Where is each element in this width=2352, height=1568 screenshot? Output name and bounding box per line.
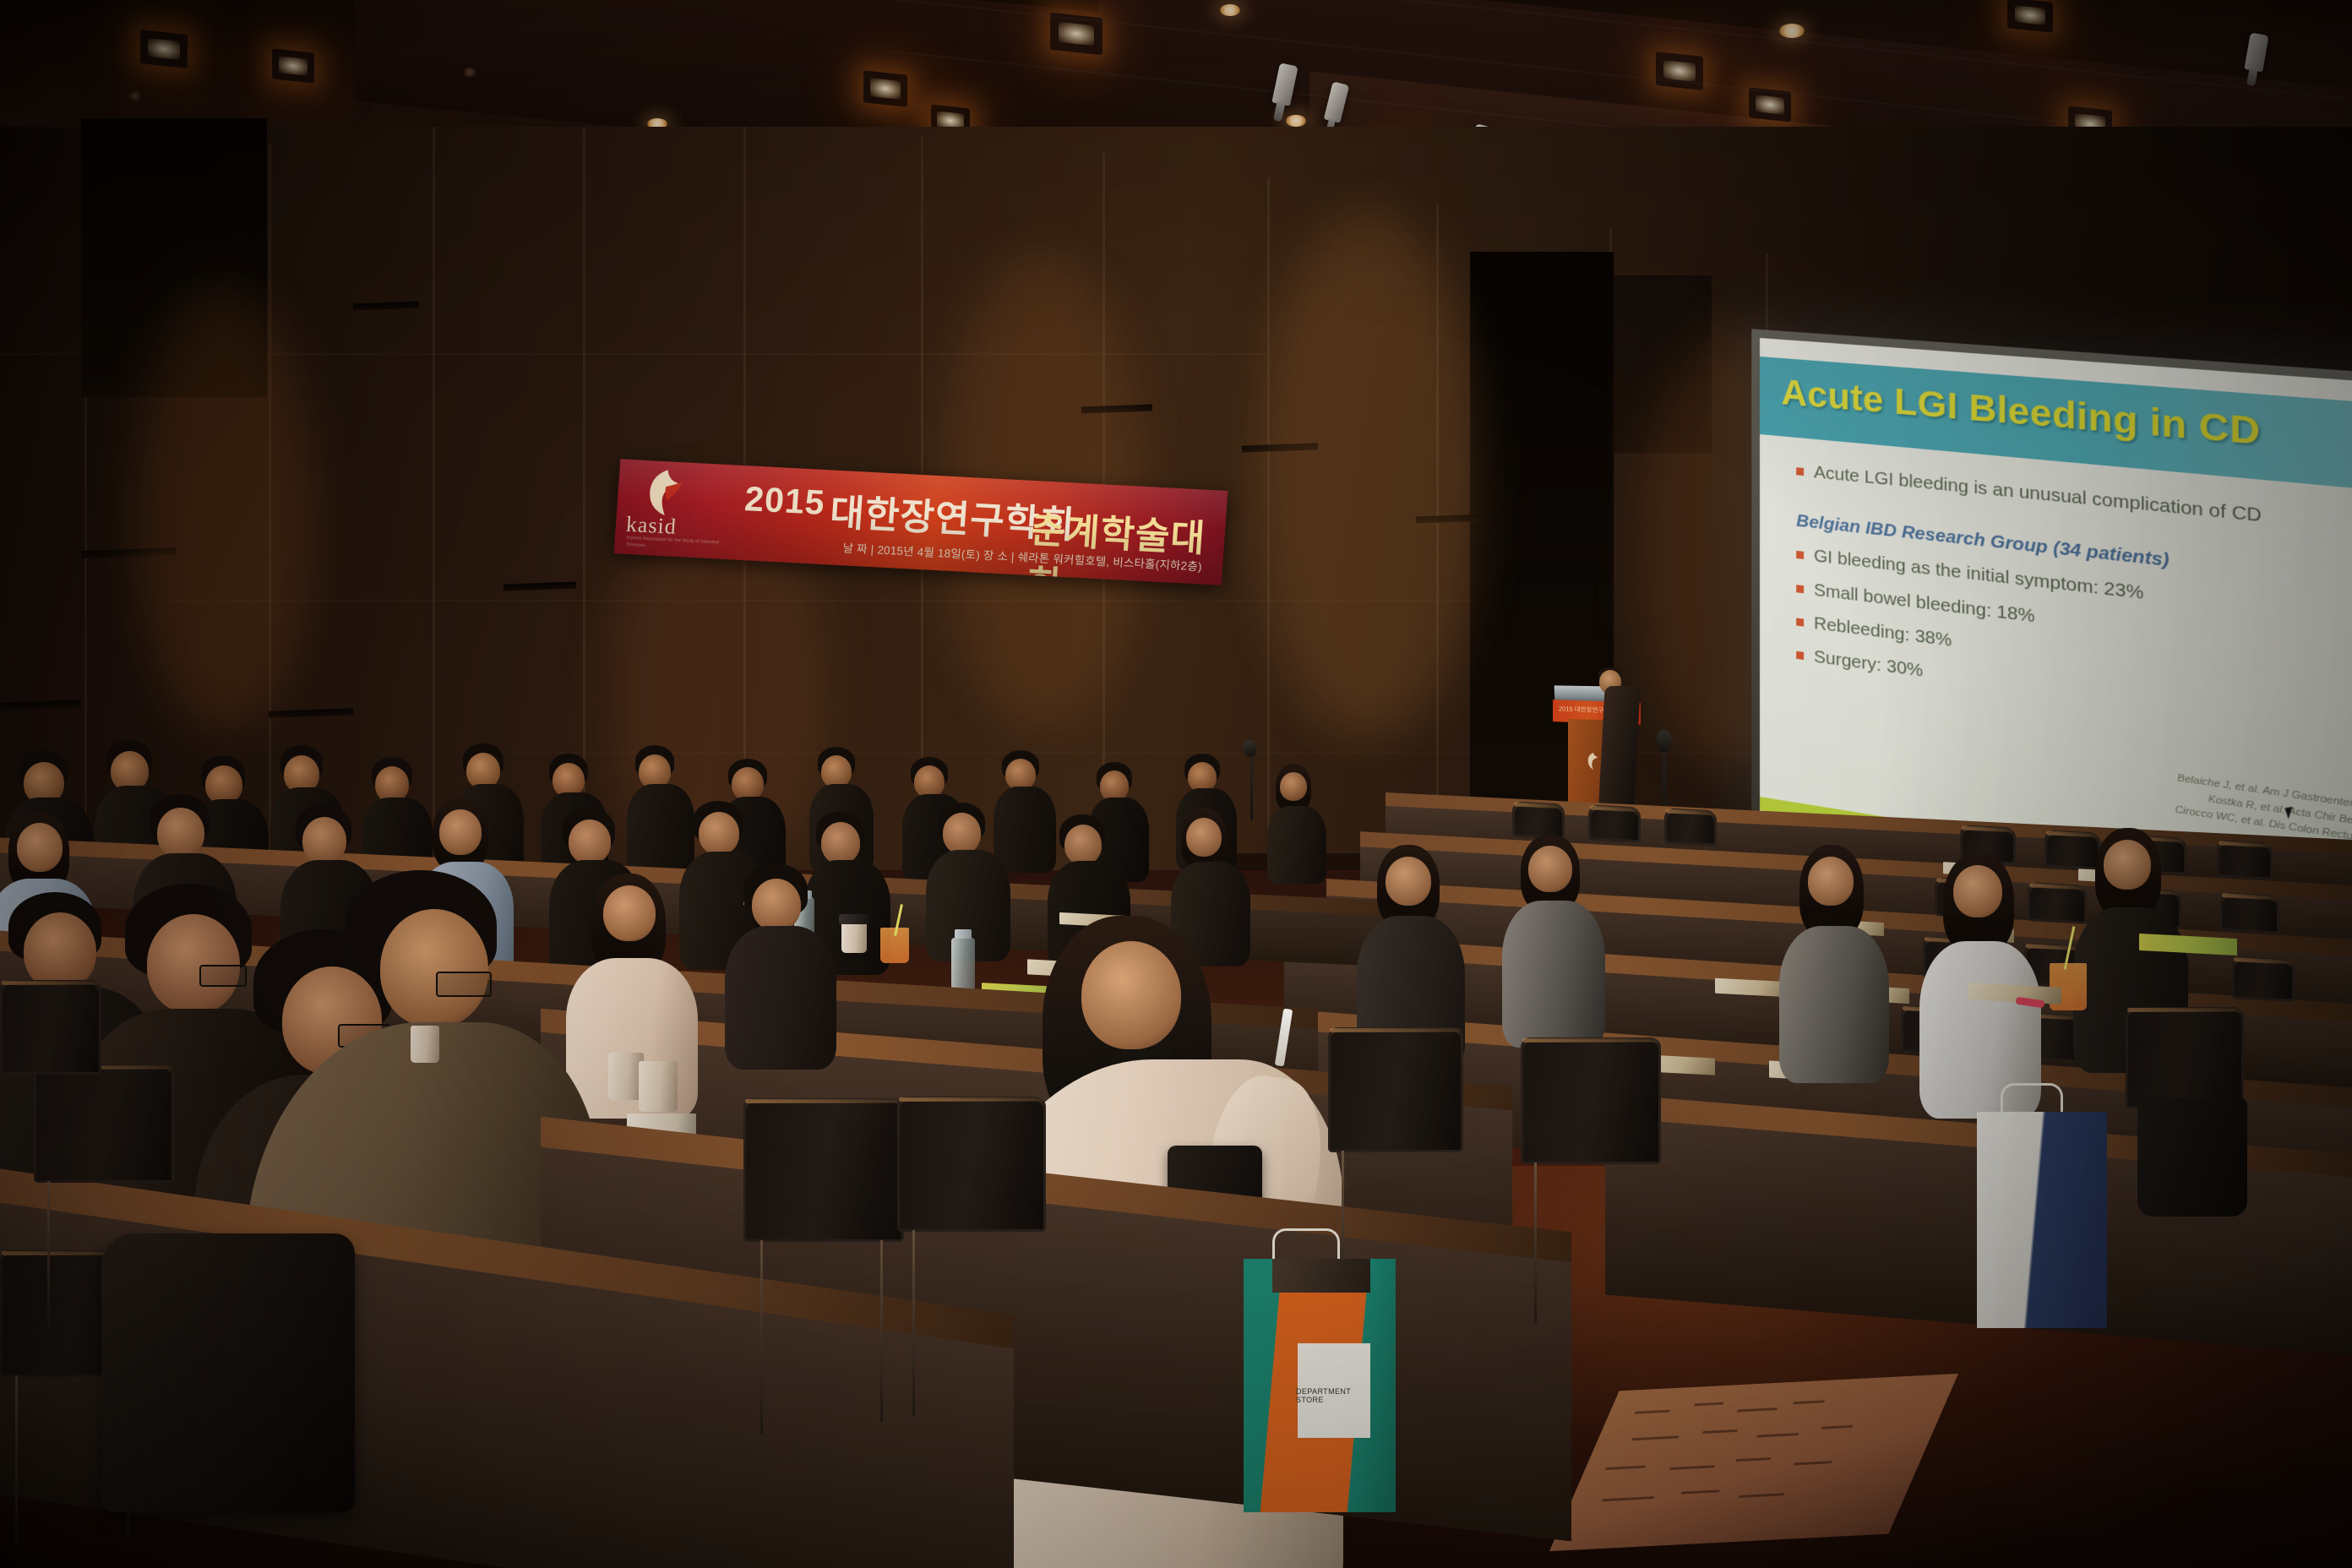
bullet-square-icon <box>1796 618 1804 626</box>
shopping-bag-department-store: DEPARTMENT STORE <box>1244 1259 1396 1512</box>
chair[interactable] <box>2220 892 2279 934</box>
lecture-hall-photo: Acute LGI Bleeding in CD Acute LGI bleed… <box>0 0 2352 1568</box>
ceiling-square-light <box>1656 52 1703 90</box>
attendee-head <box>1186 818 1222 857</box>
attendee-head <box>1808 857 1854 906</box>
attendee-torso <box>725 926 836 1070</box>
track-spotlight <box>2244 32 2268 72</box>
attendee-head <box>147 914 240 1014</box>
chair[interactable] <box>1512 801 1565 839</box>
ceiling-dim-light <box>463 68 476 77</box>
wall-accent-strip <box>0 700 81 710</box>
bottle-cap <box>955 929 972 939</box>
eyeglasses <box>436 972 492 997</box>
attendee-head <box>752 879 801 931</box>
microphone-stand <box>1250 752 1253 819</box>
chair-foreground[interactable] <box>1521 1037 1661 1164</box>
ceiling-square-light <box>863 70 907 106</box>
cup-lid <box>839 914 869 924</box>
attendee-head <box>2104 840 2151 890</box>
chair[interactable] <box>2028 882 2087 924</box>
attendee-head <box>1528 846 1572 892</box>
attendee-head <box>380 909 488 1027</box>
chair-foreground[interactable] <box>0 980 101 1075</box>
attendee-head <box>732 767 764 801</box>
chair-foreground[interactable] <box>2126 1007 2244 1108</box>
kasid-logo-icon <box>639 467 694 519</box>
attendee-head <box>821 822 860 864</box>
speaker-presenter <box>1598 686 1640 804</box>
chair-foreground[interactable] <box>34 1064 174 1183</box>
attendee-head <box>302 817 346 864</box>
attendee-torso <box>627 784 694 875</box>
attendee-head <box>1081 941 1181 1049</box>
ceiling-square-light <box>1050 13 1102 56</box>
banner-organization: 대한장연구학회 <box>829 482 1077 548</box>
banner-year: 2015 <box>743 479 826 523</box>
wall-accent-strip <box>1081 405 1152 414</box>
attendee-head <box>439 809 482 855</box>
attendee-head <box>24 912 96 990</box>
wall-seam <box>1436 203 1439 862</box>
chair-foreground[interactable] <box>897 1097 1046 1232</box>
attendee-head <box>1953 865 2002 917</box>
ceiling-round-light <box>1286 115 1306 127</box>
attendee-torso <box>1502 901 1605 1048</box>
chair-foreground[interactable] <box>1328 1027 1463 1152</box>
attendee-torso <box>994 787 1056 873</box>
eyeglasses <box>199 965 247 987</box>
kasid-tagline: Korean Association for the Study of Inte… <box>626 536 721 554</box>
attendee-head <box>17 823 63 872</box>
attendee-torso <box>1779 926 1889 1083</box>
podium-kasid-logo-icon <box>1585 752 1602 770</box>
attendee-head <box>1386 857 1431 906</box>
wall-accent-strip <box>353 302 419 311</box>
chair[interactable] <box>1664 808 1717 846</box>
attendee-head <box>1064 825 1102 865</box>
wall-dark-panel <box>1610 275 1712 453</box>
wall-seam <box>269 144 271 929</box>
handbag <box>2137 1098 2247 1217</box>
wall-accent-strip <box>1242 443 1318 452</box>
ceiling-square-light <box>272 48 314 83</box>
chair[interactable] <box>2044 830 2100 869</box>
slide-bullet-text: Surgery: 30% <box>1814 645 1923 683</box>
wall-dark-panel <box>81 118 267 397</box>
attendee-head <box>569 819 611 864</box>
attendee-head <box>603 885 656 941</box>
wall-accent-strip <box>269 708 353 717</box>
backpack <box>101 1233 355 1512</box>
chair-foreground[interactable] <box>743 1098 904 1242</box>
kasid-wordmark: kasid <box>625 512 720 542</box>
chair[interactable] <box>2217 840 2273 879</box>
wall-accent-strip <box>504 582 576 591</box>
wall-seam-horizontal <box>169 600 1605 602</box>
paper-cup <box>411 1026 439 1063</box>
wall-accent-strip <box>81 547 176 558</box>
attendee-head <box>157 808 204 858</box>
paper-cup <box>639 1061 678 1112</box>
chair[interactable] <box>1588 804 1641 842</box>
bullet-square-icon <box>1796 651 1804 660</box>
attendee-head <box>699 812 739 855</box>
microphone-icon <box>1657 730 1671 752</box>
attendee-head <box>943 813 981 854</box>
banner-event-name: 춘계학술대회 <box>1025 499 1227 585</box>
wall-light-glow <box>1259 211 1478 735</box>
attendee-head <box>1280 772 1307 801</box>
slide-bullet-text: Rebleeding: 38% <box>1814 612 1952 652</box>
ceiling-square-light <box>2007 0 2053 33</box>
bag-top-band <box>1272 1259 1370 1293</box>
bullet-square-icon <box>1796 551 1804 559</box>
shopping-bag-text: DEPARTMENT STORE <box>1296 1387 1374 1404</box>
ceiling-square-light <box>140 30 188 68</box>
ceiling-dim-light <box>128 91 142 101</box>
paper-cup <box>841 921 867 953</box>
wall-seam <box>1267 177 1270 862</box>
attendee-torso <box>1267 806 1326 884</box>
bullet-square-icon <box>1796 467 1804 476</box>
bullet-square-icon <box>1796 585 1804 593</box>
shopping-bag-navy <box>1977 1112 2107 1328</box>
ceiling-square-light <box>1749 87 1791 122</box>
chair[interactable] <box>2232 956 2295 1002</box>
bag-body <box>1977 1112 2107 1328</box>
ceiling-round-light <box>1220 4 1240 16</box>
ceiling-round-light <box>1779 24 1805 38</box>
slide-body: Acute LGI bleeding is an unusual complic… <box>1796 460 2352 759</box>
